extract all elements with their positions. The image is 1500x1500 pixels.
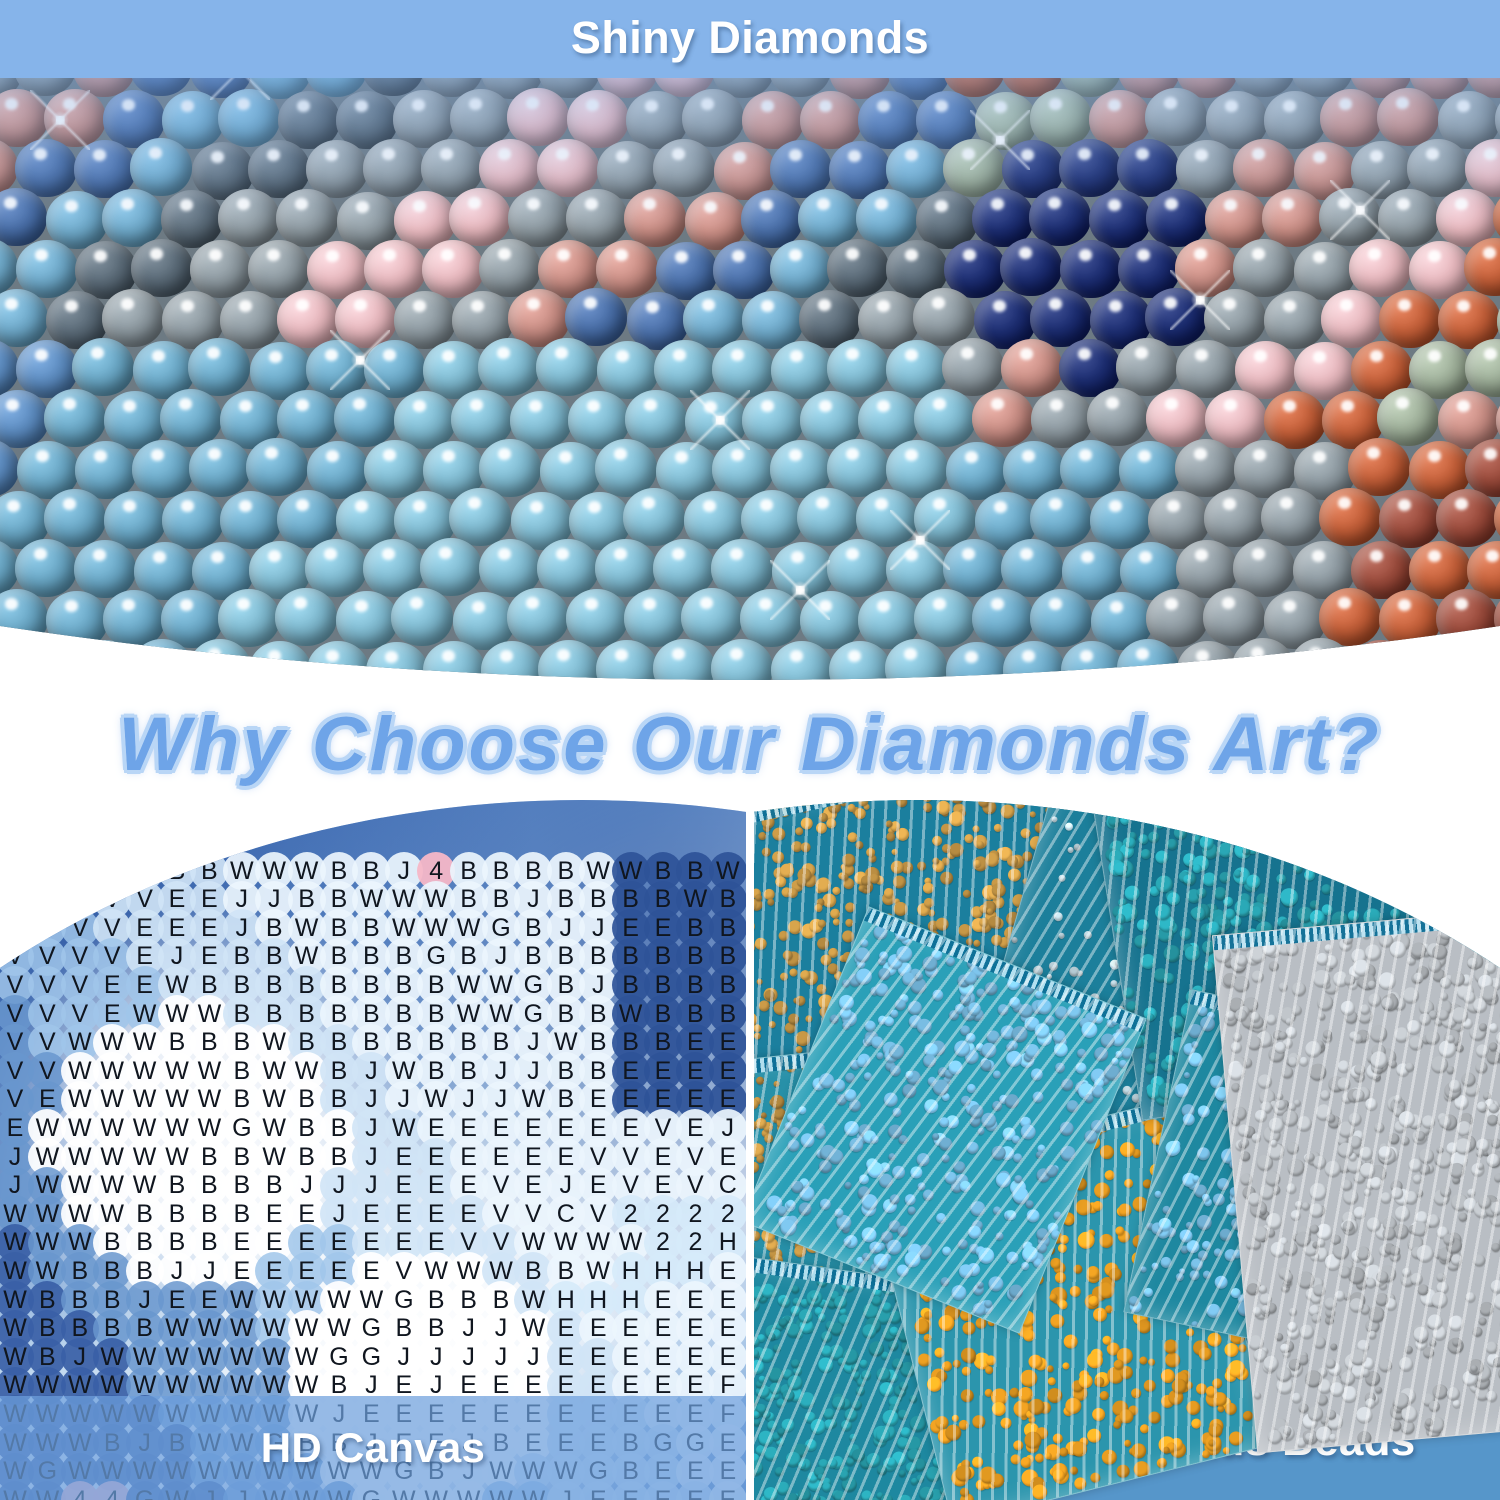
main-title: Why Choose Our Diamonds Art? [118, 701, 1381, 788]
hd-canvas-caption: HD Canvas [261, 1424, 485, 1472]
canvas-symbol-cell: V [61, 852, 99, 890]
canvas-symbol-cell: V [0, 881, 34, 919]
canvas-symbol-cell: V [0, 909, 34, 947]
canvas-symbol-cell: E [28, 852, 66, 890]
infographic-page: Shiny Diamonds Why Choose Our Diamonds A… [0, 0, 1500, 1500]
diamond-beads-panel: Sufficient Diamonds Beads [754, 800, 1500, 1500]
page-title: Shiny Diamonds [0, 8, 1500, 68]
main-title-container: Why Choose Our Diamonds Art? [0, 688, 1500, 800]
canvas-symbol-cell: J [126, 852, 164, 890]
shiny-diamonds-photo-panel [0, 0, 1500, 680]
hd-canvas-caption-band: HD Canvas [0, 1396, 746, 1500]
hd-canvas-panel: VEVJJBBWWWBBJ4BBBBWWBBWVEEVVEEJJBBWWWBBJ… [0, 800, 746, 1500]
panel-divider [746, 800, 754, 1500]
canvas-symbol-cell: E [28, 881, 66, 919]
canvas-symbol-cell: J [93, 852, 131, 890]
canvas-symbol-grid: VEVJJBBWWWBBJ4BBBBWWBBWVEEVVEEJJBBWWWBBJ… [0, 800, 746, 1500]
photo-haze-overlay [0, 0, 1500, 680]
bead-bags-photo [754, 800, 1500, 1500]
canvas-symbol-cell: V [0, 852, 34, 890]
canvas-symbol-cell: E [61, 881, 99, 919]
bead-bag [1212, 907, 1500, 1454]
